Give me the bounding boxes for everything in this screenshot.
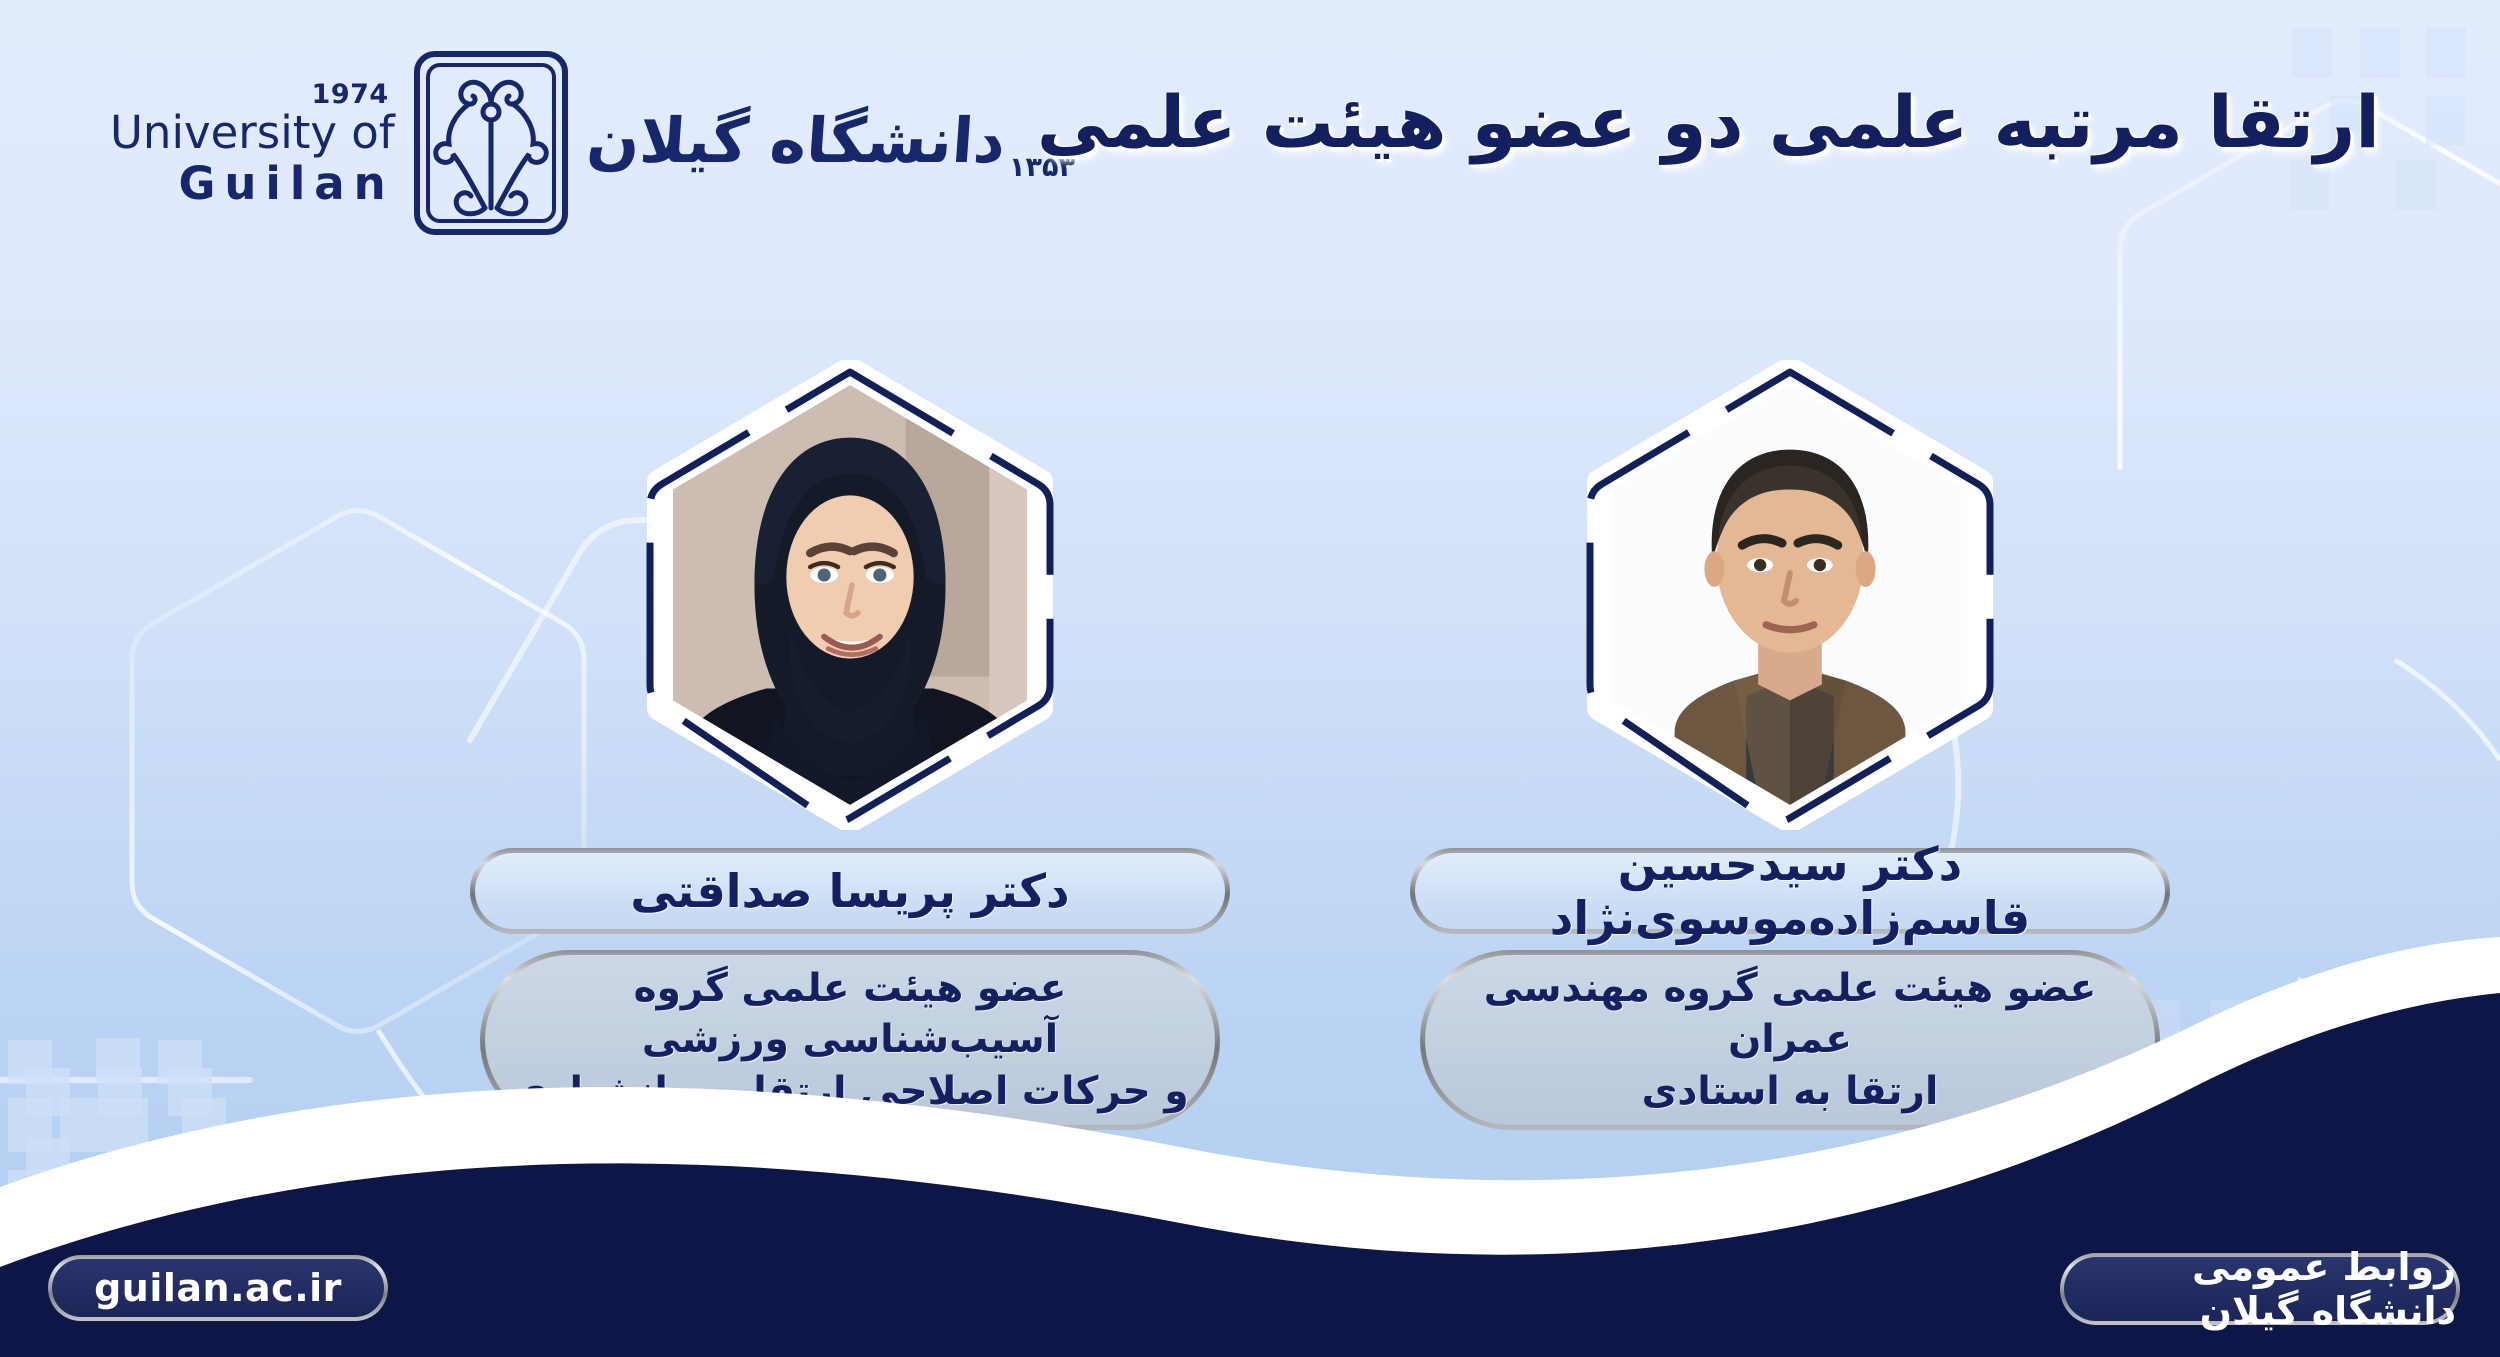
page-title: ارتقا مرتبه علمی دو عضو هیئت علمی	[960, 76, 2380, 168]
logo-line-university-of: University of	[110, 110, 395, 155]
footer-website-badge[interactable]: guilan.ac.ir	[48, 1255, 388, 1321]
footer-public-relations-badge: روابط عمومی دانشگاه گیلان	[2060, 1253, 2460, 1325]
logo-line-guilan: Guilan	[178, 161, 394, 206]
logo-name-persian: دانشگاه گیلان	[584, 108, 1007, 173]
person-0-name-badge: دکتر پریسا صداقتی	[470, 848, 1230, 934]
logo-latin-block: 1974 University of Guilan	[110, 81, 395, 210]
person-0-photo-frame	[635, 360, 1065, 830]
person-0-hex-outline	[635, 360, 1065, 830]
university-logo: 1974 University of Guilan ۱۳۵۳ دانشگاه گ…	[110, 48, 1075, 242]
footer-website-label: guilan.ac.ir	[94, 1266, 342, 1310]
person-0-name: دکتر پریسا صداقتی	[630, 864, 1069, 918]
guilan-university-emblem-icon	[411, 48, 571, 242]
person-1-photo-frame	[1575, 360, 2005, 830]
person-1-name: دکتر سیدحسین قاسم‌زاده‌موسوی‌نژاد	[1415, 837, 2165, 945]
banner-canvas: 1974 University of Guilan ۱۳۵۳ دانشگاه گ…	[0, 0, 2500, 1357]
person-1-name-badge: دکتر سیدحسین قاسم‌زاده‌موسوی‌نژاد	[1410, 848, 2170, 934]
logo-founding-year-latin: 1974	[312, 81, 389, 108]
footer-public-relations-label: روابط عمومی دانشگاه گیلان	[2064, 1245, 2456, 1333]
person-1-hex-outline	[1575, 360, 2005, 830]
